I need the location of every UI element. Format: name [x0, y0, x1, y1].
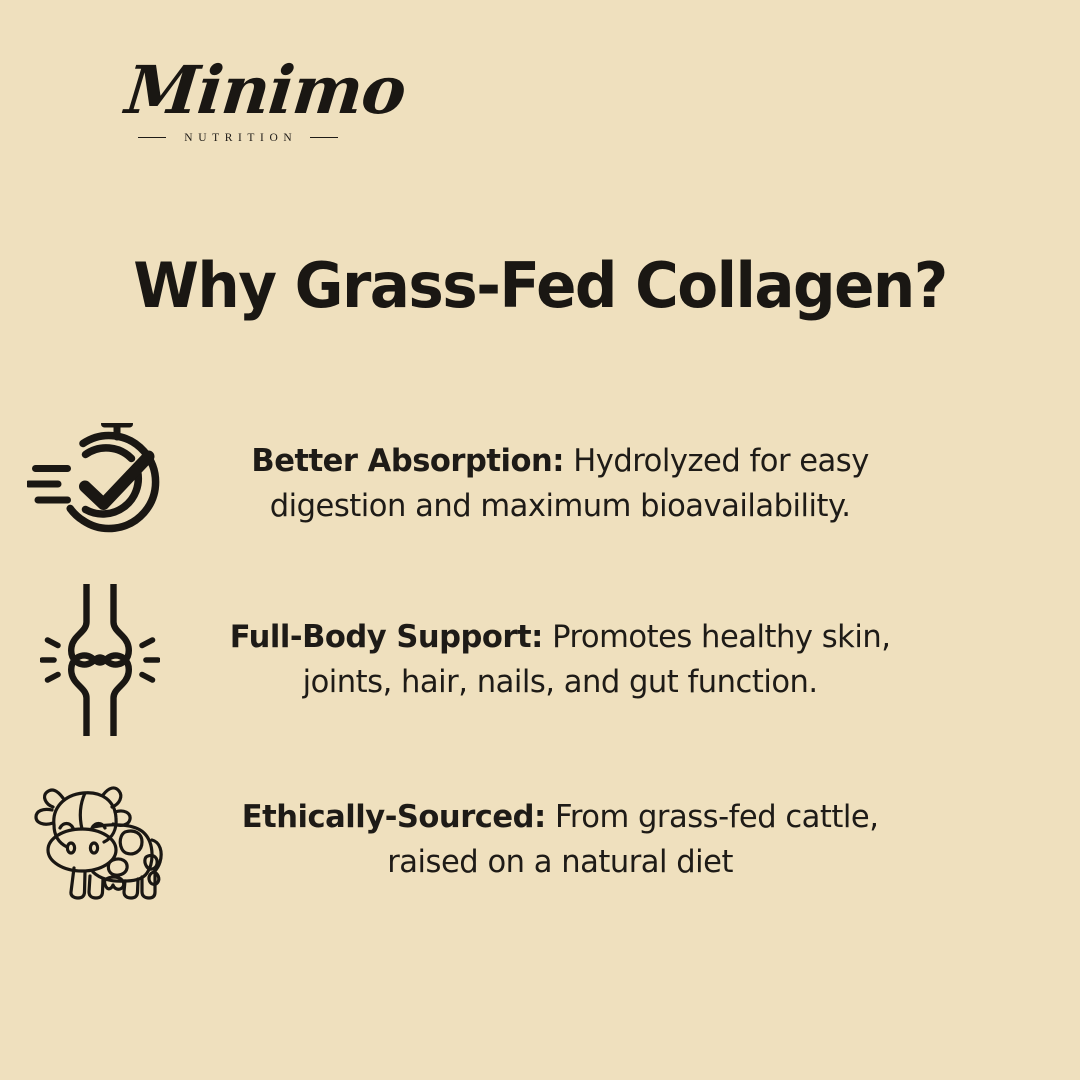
brand-logo: Minimo NUTRITION	[126, 58, 346, 144]
feature-lead: Full-Body Support:	[230, 619, 543, 655]
feature-text: Full-Body Support: Promotes healthy skin…	[211, 615, 917, 704]
brand-tagline: NUTRITION	[179, 132, 298, 144]
feature-item: Better Absorption: Hydrolyzed for easy d…	[0, 398, 1080, 570]
cow-icon	[0, 754, 200, 926]
stopwatch-check-icon	[0, 398, 200, 570]
tagline-rule-left	[138, 137, 166, 139]
feature-text: Ethically-Sourced: From grass-fed cattle…	[211, 795, 917, 884]
feature-list: Better Absorption: Hydrolyzed for easy d…	[0, 398, 1080, 926]
feature-item: Ethically-Sourced: From grass-fed cattle…	[0, 754, 1080, 926]
feature-item: Full-Body Support: Promotes healthy skin…	[0, 574, 1080, 746]
knee-joint-icon	[0, 574, 200, 746]
brand-tagline-row: NUTRITION	[126, 132, 346, 144]
feature-lead: Better Absorption:	[251, 443, 564, 479]
brand-name: Minimo	[123, 58, 350, 123]
feature-lead: Ethically-Sourced:	[242, 799, 546, 835]
page-title: Why Grass-Fed Collagen?	[22, 249, 1059, 322]
feature-text: Better Absorption: Hydrolyzed for easy d…	[211, 439, 917, 528]
tagline-rule-right	[310, 137, 338, 139]
